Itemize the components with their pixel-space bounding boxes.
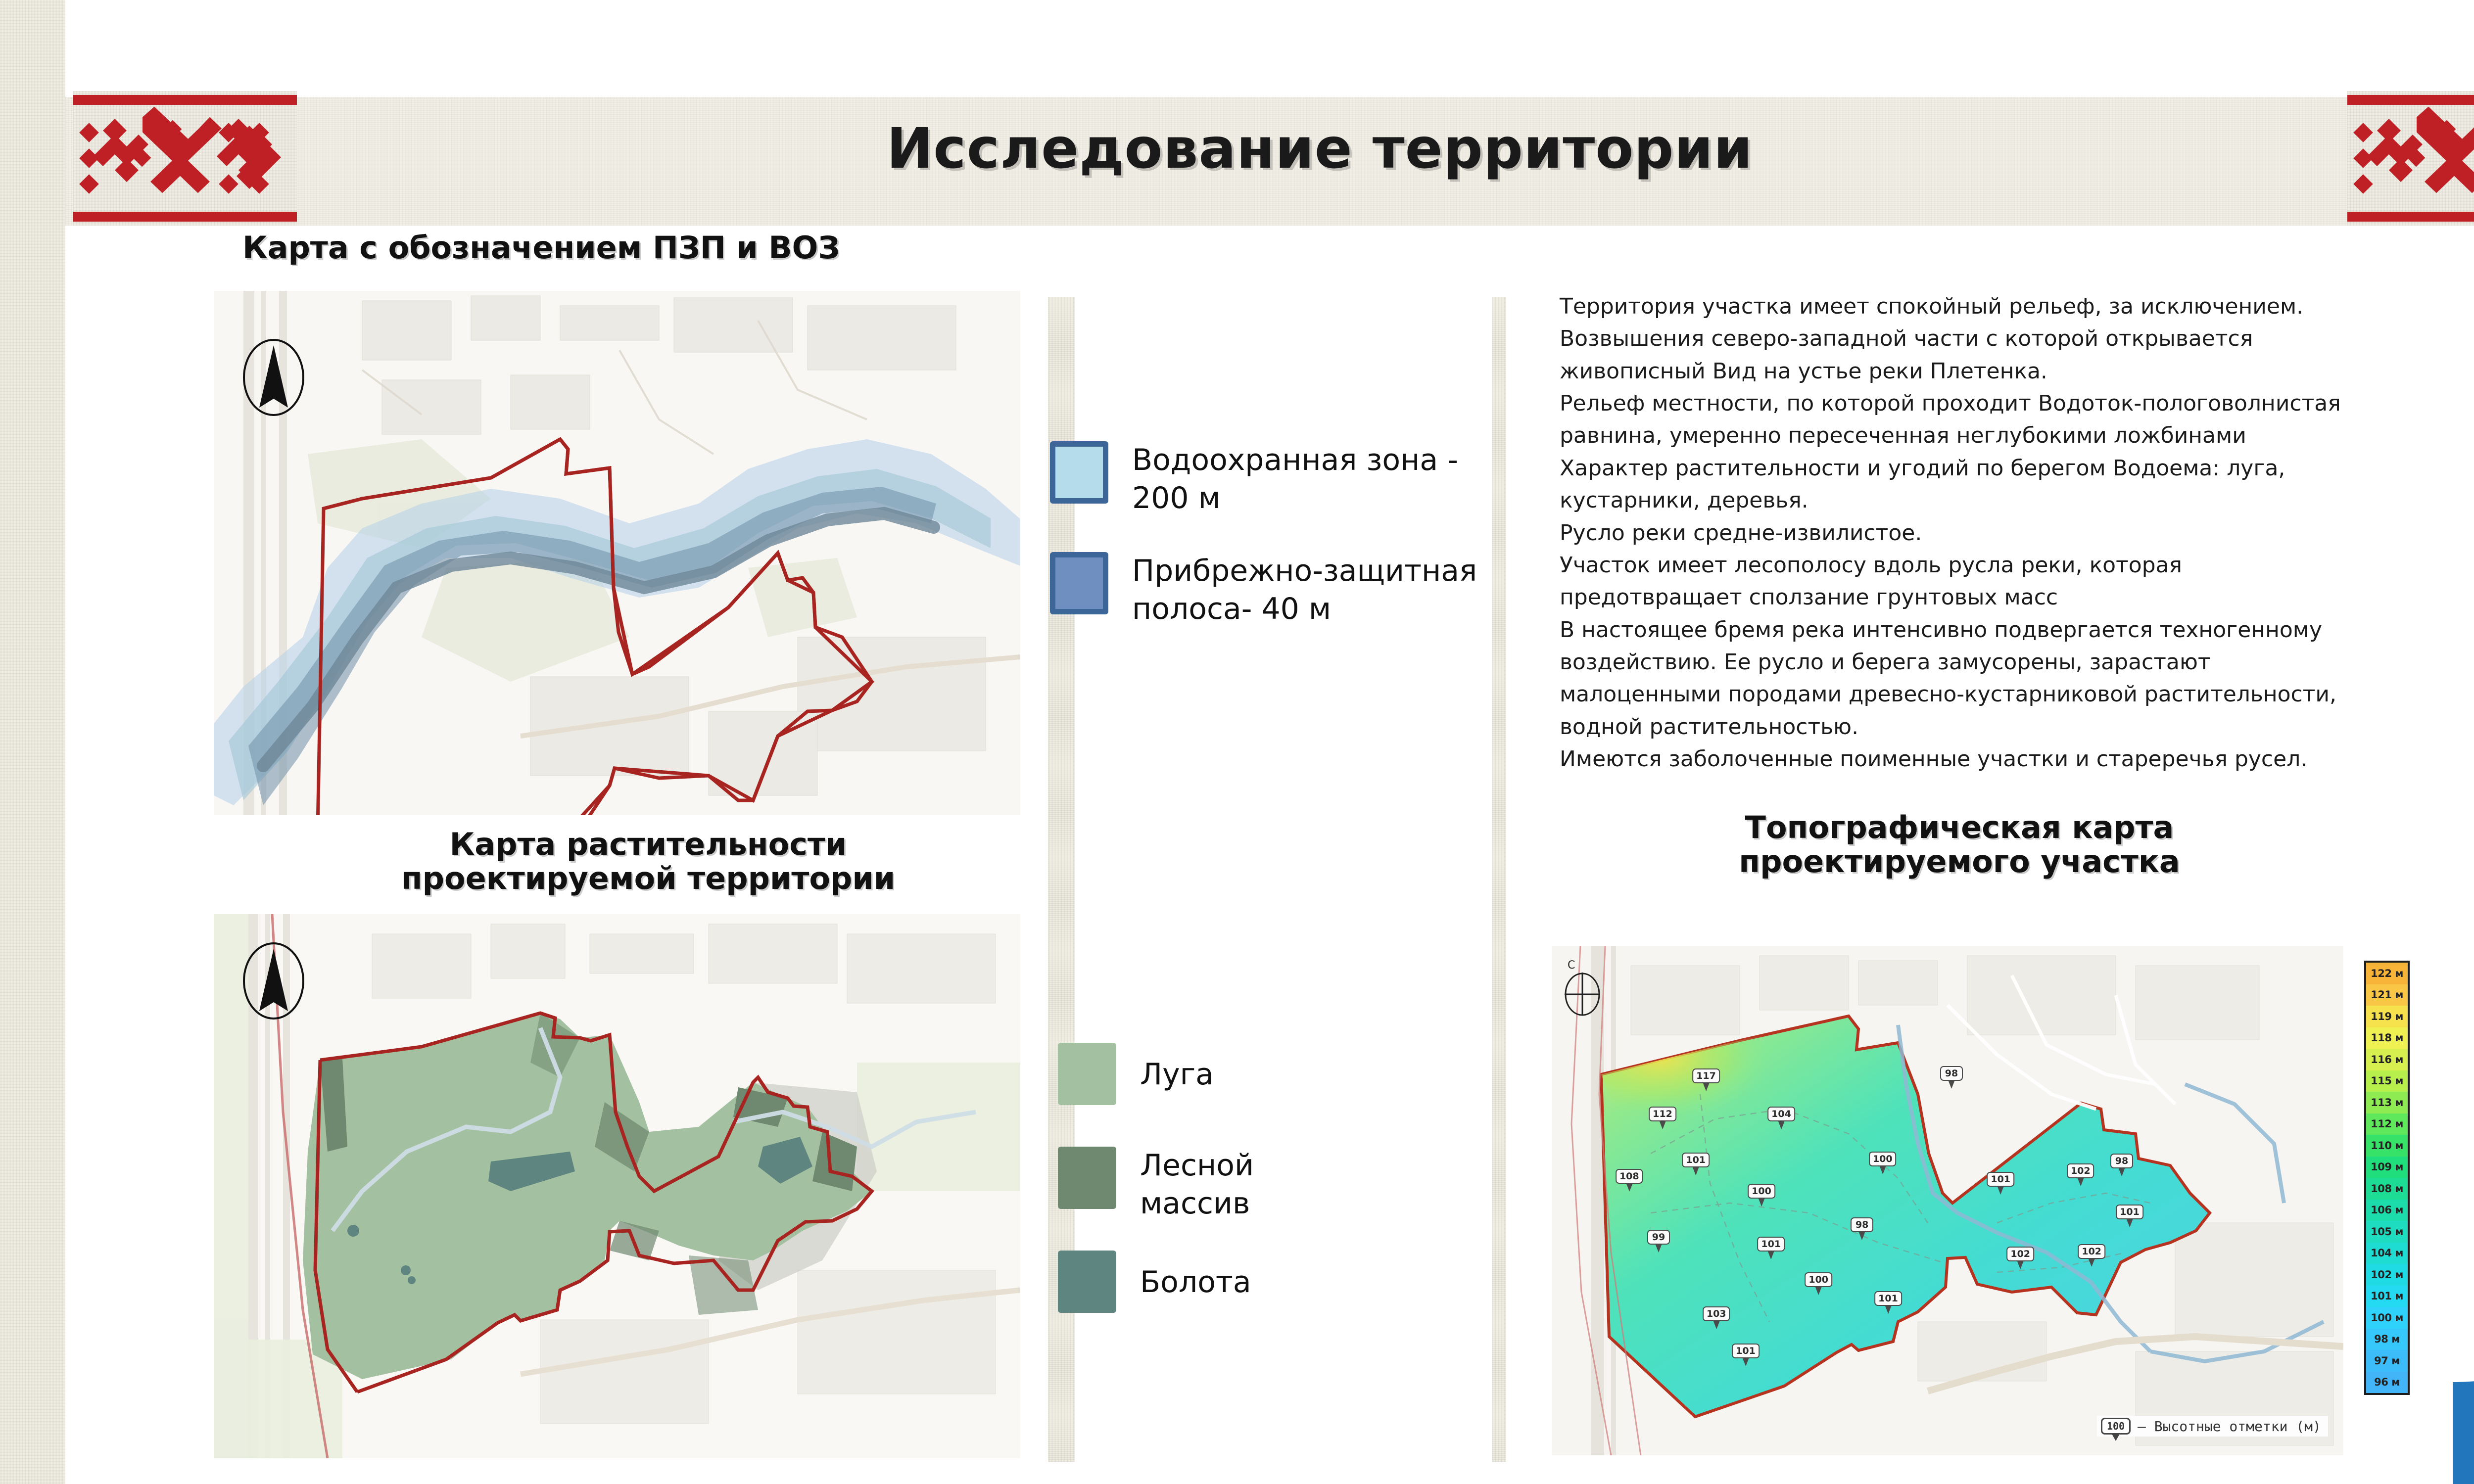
legend-label-forest: Лесной массив <box>1140 1147 1298 1223</box>
elevation-marker: 112 <box>1649 1107 1676 1121</box>
elevation-marker-pin: 112 <box>1649 1107 1676 1121</box>
description-line: воздействию. Ее русло и берега замусорен… <box>1560 647 2445 678</box>
elevation-marker-pin: 98 <box>1851 1217 1873 1232</box>
heading-map-voz: Карта с обозначением ПЗП и ВОЗ <box>242 231 840 265</box>
elevation-marker-tail <box>1815 1286 1822 1295</box>
left-texture-band <box>0 0 65 1484</box>
slide-title: Исследование территории <box>0 117 2474 181</box>
elevation-marker-tail <box>2077 1177 2084 1186</box>
description-line: предотвращает сползание грунтовых масс <box>1560 582 2445 613</box>
elevation-scale-row: 119 м <box>2366 1006 2408 1027</box>
map-voz-graphic <box>214 291 1020 815</box>
elevation-pin-icon: 100 <box>2101 1418 2131 1435</box>
elevation-marker: 100 <box>1805 1272 1832 1287</box>
legend-item-water-protection-zone: Водоохранная зона - 200 м <box>1050 441 1508 517</box>
elevation-marker-pin: 103 <box>1703 1306 1730 1321</box>
description-line: Имеются заболоченные поименные участки и… <box>1560 743 2445 775</box>
elevation-marker: 98 <box>1940 1066 1963 1081</box>
description-line: малоценными породами древесно-кустарнико… <box>1560 679 2445 710</box>
description-line: кустарники, деревья. <box>1560 485 2445 516</box>
elevation-scale-row: 108 м <box>2366 1178 2408 1200</box>
elevation-scale-row: 116 м <box>2366 1049 2408 1070</box>
elevation-marker: 101 <box>1732 1344 1760 1358</box>
elevation-marker-tail <box>1948 1080 1955 1089</box>
ornament-bar-bottom <box>73 212 297 222</box>
elevation-scale-row: 96 м <box>2366 1372 2408 1393</box>
page-number: 7 <box>2453 1391 2474 1427</box>
elevation-scale: 122 м121 м119 м118 м116 м115 м113 м112 м… <box>2364 961 2410 1395</box>
legend-label-coastal-protective-strip: Прибрежно-защитная полоса- 40 м <box>1132 552 1508 628</box>
heading-map-vegetation-line2: проектируемой территории <box>317 861 980 895</box>
elevation-marker-tail <box>1767 1251 1774 1259</box>
elevation-marker: 108 <box>1616 1169 1643 1184</box>
elevation-scale-row: 104 м <box>2366 1243 2408 1264</box>
elevation-scale-row: 100 м <box>2366 1307 2408 1329</box>
page-number-badge: 7 <box>2453 1365 2474 1484</box>
description-line: водной растительностью. <box>1560 711 2445 742</box>
map-vegetation-graphic <box>214 914 1020 1458</box>
map-topo-graphic <box>1552 946 2343 1455</box>
legend-swatch-forest <box>1058 1147 1116 1209</box>
elevation-scale-row: 122 м <box>2366 963 2408 984</box>
elevation-marker-pin: 101 <box>1874 1291 1902 1306</box>
elevation-marker: 100 <box>1869 1152 1897 1166</box>
elevation-marker-tail <box>2126 1218 2133 1227</box>
elevation-marker-pin: 98 <box>1940 1066 1963 1081</box>
elevation-marker: 101 <box>1682 1153 1710 1167</box>
legend-swatch-meadows <box>1058 1043 1116 1105</box>
legend-swatch-swamps <box>1058 1251 1116 1313</box>
legend-item-coastal-protective-strip: Прибрежно-защитная полоса- 40 м <box>1050 552 1508 628</box>
legend-item-meadows: Луга <box>1058 1043 1214 1105</box>
elevation-marker-pin: 100 <box>1869 1152 1897 1166</box>
elevation-marker: 104 <box>1767 1107 1795 1121</box>
elevation-marker-tail <box>1858 1231 1865 1240</box>
elevation-marker: 101 <box>1874 1291 1902 1306</box>
elevation-marker-pin: 104 <box>1767 1107 1795 1121</box>
elevation-marker-pin: 102 <box>2067 1163 2094 1178</box>
north-arrow-icon <box>242 942 305 1020</box>
elevation-marker-tail <box>1692 1166 1699 1175</box>
elevation-scale-row: 121 м <box>2366 984 2408 1006</box>
elevation-marker-pin: 101 <box>1682 1153 1710 1167</box>
description-line: В настоящее бремя река интенсивно подвер… <box>1560 614 2445 646</box>
elevation-marker-tail <box>1879 1165 1886 1174</box>
elevation-marker-pin: 99 <box>1647 1230 1670 1245</box>
elevation-scale-row: 118 м <box>2366 1027 2408 1049</box>
legend-item-forest: Лесной массив <box>1058 1147 1298 1223</box>
elevation-scale-row: 98 м <box>2366 1329 2408 1350</box>
elevation-marker-tail <box>1713 1320 1720 1329</box>
elevation-marker-pin: 108 <box>1616 1169 1643 1184</box>
elevation-marker-pin: 117 <box>1692 1068 1720 1083</box>
elevation-marker: 101 <box>1757 1237 1785 1252</box>
description-line: Территория участка имеет спокойный релье… <box>1560 291 2445 322</box>
elevation-marker-pin: 101 <box>1732 1344 1760 1358</box>
elevation-marker: 102 <box>2078 1244 2105 1259</box>
ornament-bar-top <box>2347 95 2474 105</box>
topo-legend-caption: 100 – Высотные отметки (м) <box>2097 1416 2328 1437</box>
elevation-scale-row: 97 м <box>2366 1350 2408 1372</box>
elevation-marker-tail <box>2088 1258 2095 1267</box>
map-vegetation[interactable] <box>214 914 1020 1458</box>
ornament-bar-bottom <box>2347 212 2474 222</box>
elevation-marker-tail <box>1655 1244 1662 1252</box>
elevation-marker-pin: 101 <box>1757 1237 1785 1252</box>
description-line: Возвышения северо-западной части с котор… <box>1560 323 2445 354</box>
legend-item-swamps: Болота <box>1058 1251 1251 1313</box>
elevation-marker-pin: 100 <box>1805 1272 1832 1287</box>
map-topographic[interactable]: С 11798112104101100108101102981001019899… <box>1552 946 2343 1455</box>
description-line: Участок имеет лесополосу вдоль русла рек… <box>1560 550 2445 581</box>
elevation-marker: 98 <box>2110 1154 2133 1168</box>
north-arrow-icon <box>242 338 305 417</box>
elevation-scale-row: 109 м <box>2366 1157 2408 1178</box>
legend-label-meadows: Луга <box>1140 1056 1214 1094</box>
north-label: С <box>1568 960 1575 972</box>
map-water-protection-zones[interactable] <box>214 291 1020 815</box>
elevation-marker: 117 <box>1692 1068 1720 1083</box>
elevation-marker-tail <box>1885 1305 1892 1314</box>
description-line: Рельеф местности, по которой проходит Во… <box>1560 388 2445 419</box>
elevation-marker-tail <box>1758 1198 1765 1206</box>
elevation-marker-pin: 100 <box>1748 1184 1775 1199</box>
elevation-marker: 102 <box>2067 1163 2094 1178</box>
elevation-marker-tail <box>1703 1082 1710 1091</box>
elevation-marker-tail <box>2017 1260 2024 1269</box>
description-line: Русло реки средне-извилистое. <box>1560 517 2445 549</box>
legend-label-water-protection-zone: Водоохранная зона - 200 м <box>1132 441 1508 517</box>
heading-map-vegetation: Карта растительности проектируемой терри… <box>317 827 980 896</box>
elevation-marker-pin: 101 <box>2116 1205 2143 1219</box>
elevation-marker: 101 <box>2116 1205 2143 1219</box>
heading-map-vegetation-line1: Карта растительности <box>317 827 980 861</box>
legend-label-swamps: Болота <box>1140 1263 1251 1301</box>
elevation-marker-pin: 101 <box>1987 1172 2014 1187</box>
heading-map-topographic-line1: Топографическая карта <box>1643 810 2276 844</box>
elevation-marker: 98 <box>1851 1217 1873 1232</box>
elevation-marker: 99 <box>1647 1230 1670 1245</box>
elevation-marker-pin: 102 <box>2078 1244 2105 1259</box>
elevation-marker-tail <box>1997 1186 2004 1195</box>
elevation-marker-tail <box>1659 1120 1666 1129</box>
description-line: Характер растительности и угодий по бере… <box>1560 453 2445 484</box>
elevation-marker-tail <box>1626 1183 1633 1192</box>
elevation-marker-tail <box>2118 1167 2125 1176</box>
elevation-marker-pin: 98 <box>2110 1154 2133 1168</box>
legend-swatch-coastal-protective-strip <box>1050 552 1108 614</box>
elevation-scale-row: 106 м <box>2366 1200 2408 1221</box>
elevation-scale-row: 113 м <box>2366 1092 2408 1113</box>
elevation-marker-tail <box>1778 1120 1785 1129</box>
ornament-bar-top <box>73 95 297 105</box>
north-arrow-icon: С <box>1560 960 1605 1019</box>
description-text-block: Территория участка имеет спокойный релье… <box>1560 291 2445 776</box>
elevation-marker: 101 <box>1987 1172 2014 1187</box>
elevation-scale-row: 110 м <box>2366 1135 2408 1157</box>
elevation-scale-row: 115 м <box>2366 1070 2408 1092</box>
description-line: живописный Вид на устье реки Плетенка. <box>1560 356 2445 387</box>
elevation-marker-pin: 102 <box>2006 1247 2034 1261</box>
elevation-scale-row: 105 м <box>2366 1221 2408 1243</box>
heading-map-topographic-line2: проектируемого участка <box>1643 844 2276 879</box>
elevation-marker: 100 <box>1748 1184 1775 1199</box>
elevation-scale-row: 102 м <box>2366 1264 2408 1286</box>
elevation-marker: 102 <box>2006 1247 2034 1261</box>
legend-swatch-water-protection-zone <box>1050 441 1108 504</box>
elevation-marker-tail <box>1742 1357 1749 1366</box>
heading-map-topographic: Топографическая карта проектируемого уча… <box>1643 810 2276 879</box>
description-line: равнина, умеренно пересеченная неглубоки… <box>1560 420 2445 451</box>
elevation-marker: 103 <box>1703 1306 1730 1321</box>
elevation-scale-row: 101 м <box>2366 1286 2408 1307</box>
elevation-scale-row: 112 м <box>2366 1113 2408 1135</box>
topo-legend-caption-text: – Высотные отметки (м) <box>2138 1418 2321 1435</box>
